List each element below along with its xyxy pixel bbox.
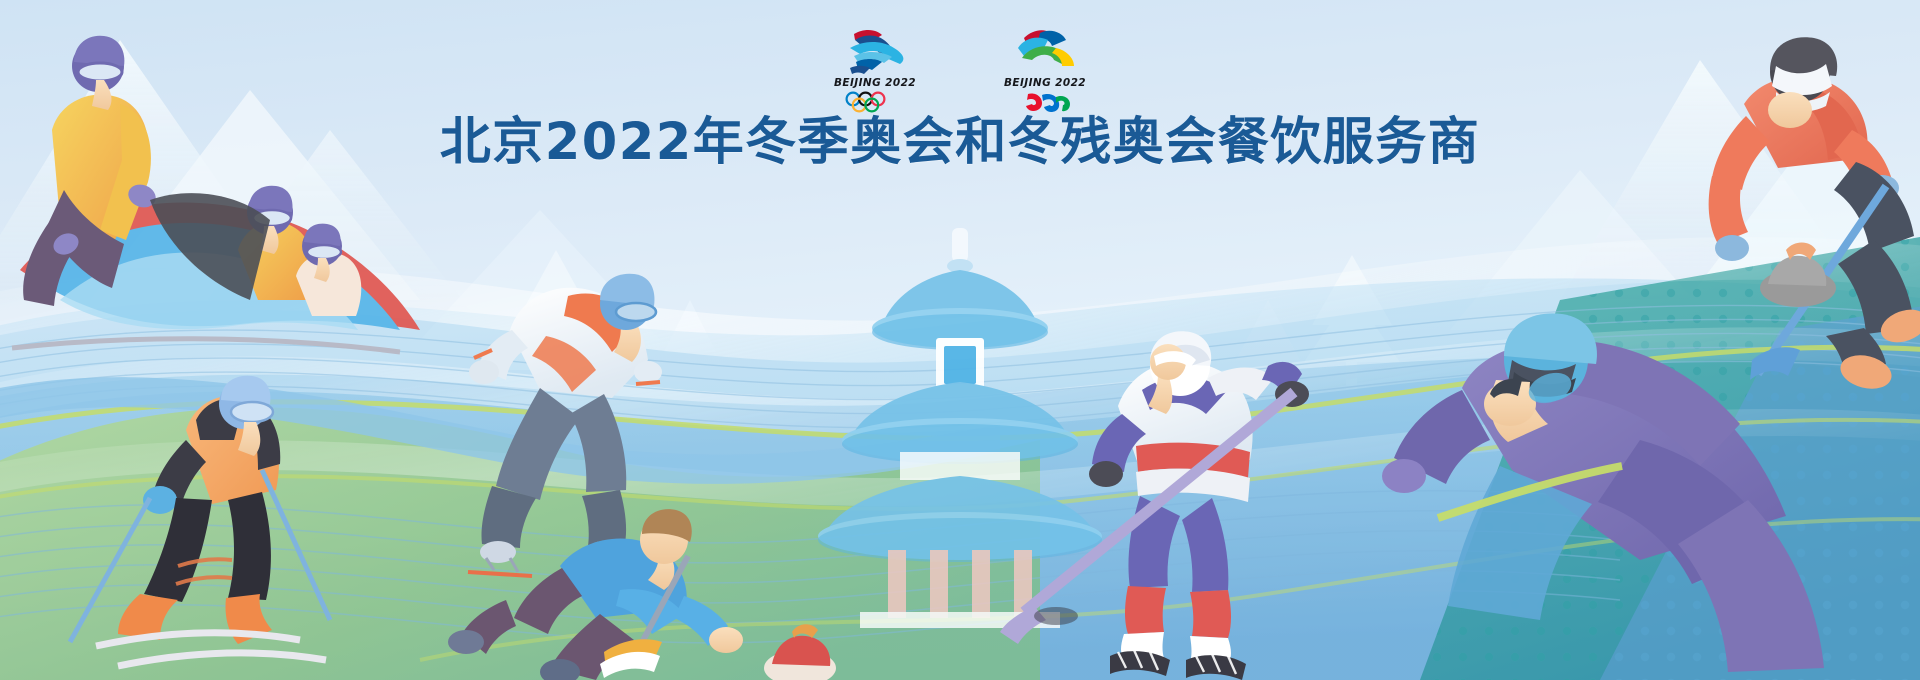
ski-poles <box>70 470 330 642</box>
skis <box>96 633 326 666</box>
olympic-wordmark: BEIJING 2022 <box>820 77 930 89</box>
agitos-icon <box>1018 91 1072 113</box>
emblem-group: BEIJING 2022 <box>0 24 1920 113</box>
curling-stone-bottom <box>764 624 836 680</box>
temple-of-heaven <box>818 228 1102 628</box>
curling-stone-right <box>1760 243 1836 308</box>
paralympic-wordmark: BEIJING 2022 <box>990 77 1100 89</box>
olympic-rings-icon <box>842 91 908 113</box>
olympic-emblem-mark <box>820 24 930 76</box>
beijing-2022-catering-banner: BEIJING 2022 <box>0 0 1920 680</box>
beijing-2022-olympic-logo: BEIJING 2022 <box>820 24 930 113</box>
speed-skater-center <box>468 274 662 576</box>
paralympic-emblem-mark <box>990 24 1100 76</box>
cross-country-skier <box>70 376 330 666</box>
beijing-2022-paralympic-logo: BEIJING 2022 <box>990 24 1100 113</box>
